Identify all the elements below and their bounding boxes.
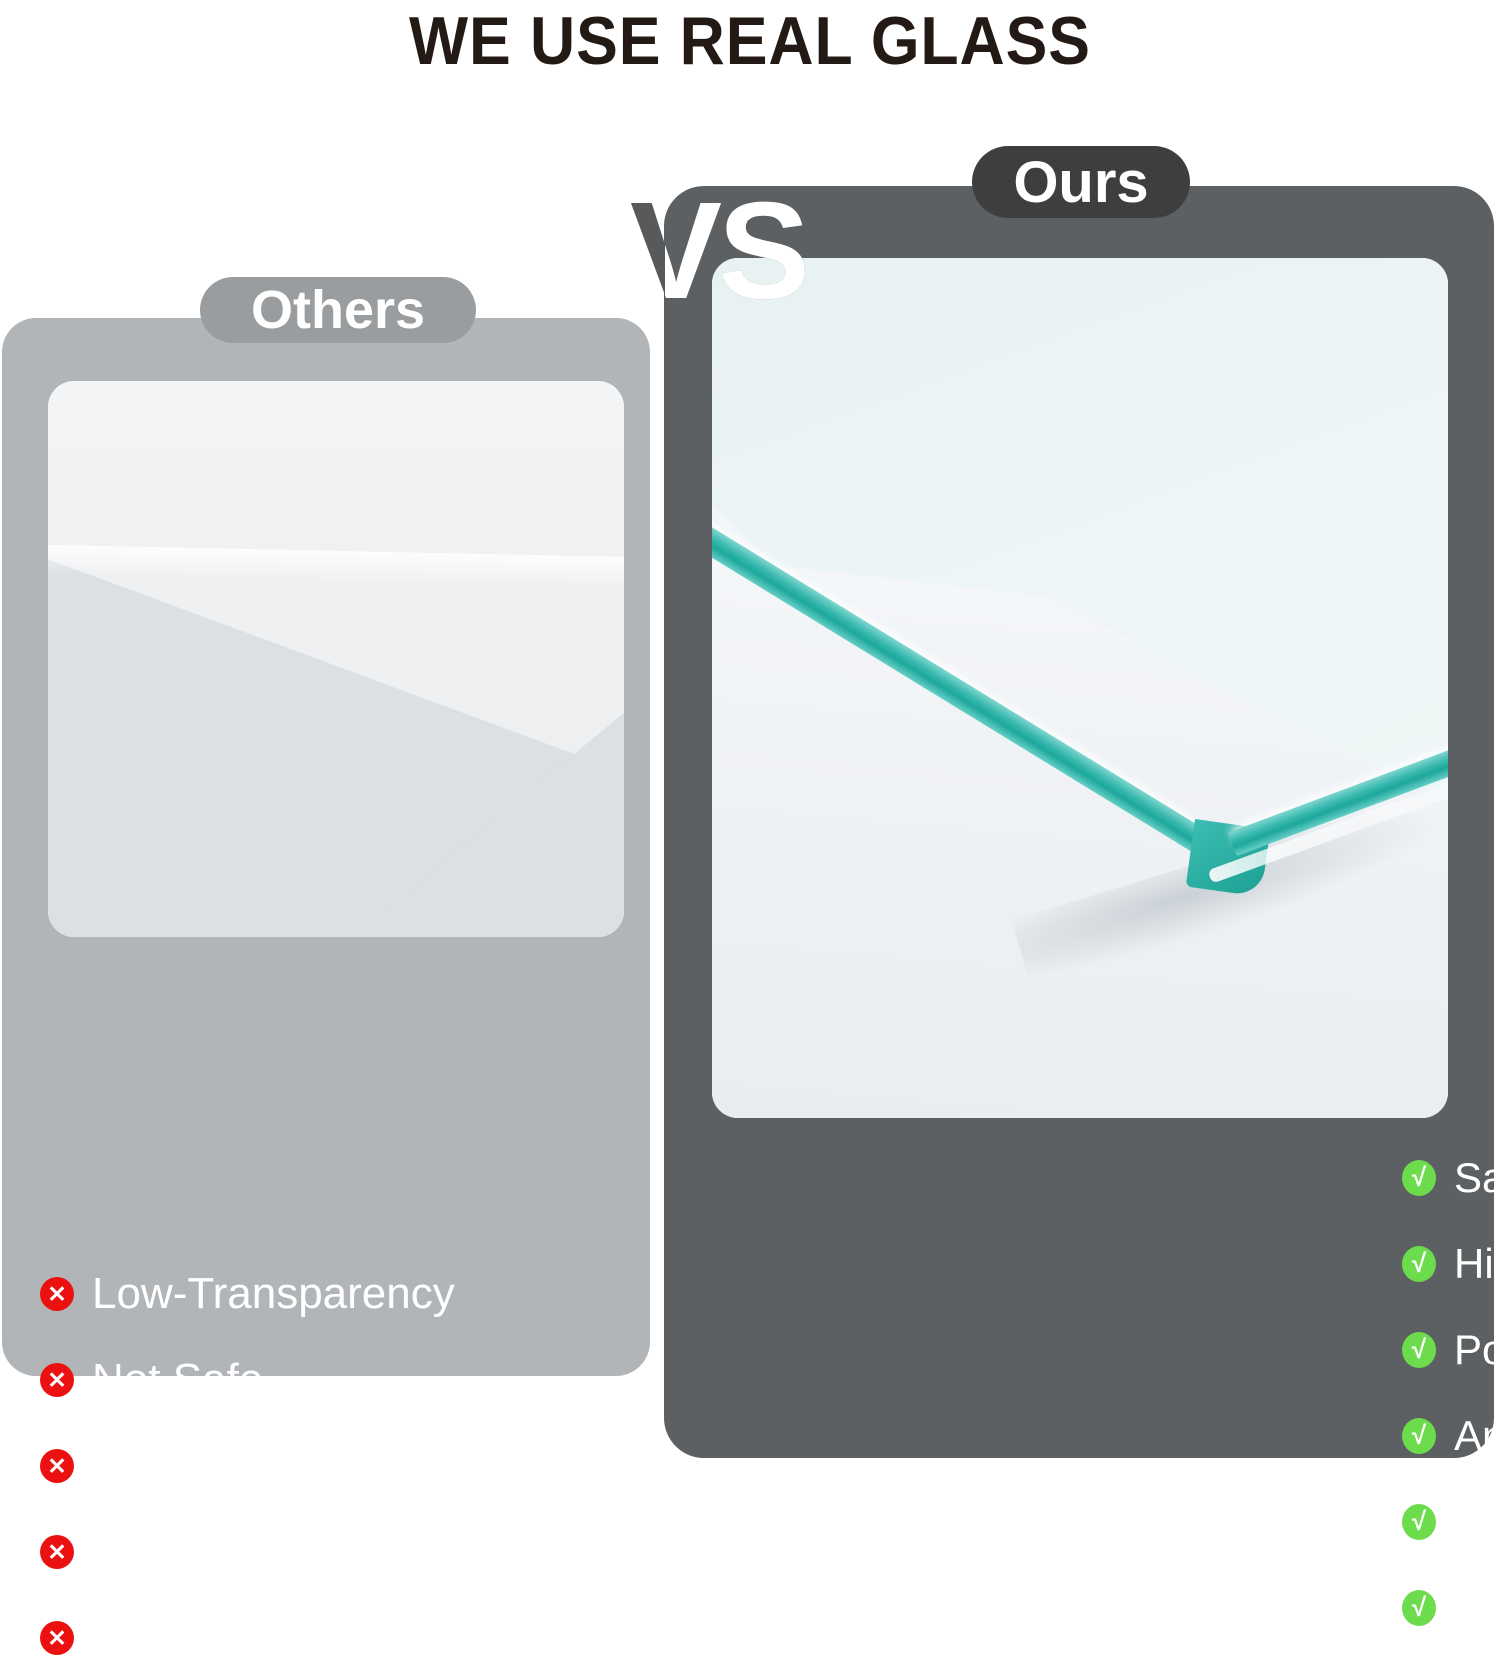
others-product-image [48, 381, 624, 937]
list-item: ✕ Easily Scratched [40, 1442, 640, 1490]
cross-icon: ✕ [40, 1449, 74, 1483]
ours-badge: Ours [972, 146, 1190, 218]
list-item-label: Not Enviromentally [92, 1614, 461, 1662]
cross-icon: ✕ [40, 1535, 74, 1569]
cross-icon: ✕ [40, 1621, 74, 1655]
list-item-label: Non-glare [1454, 1584, 1500, 1632]
check-icon: √ [1402, 1160, 1436, 1196]
list-item: ✕ Not Safe [40, 1356, 640, 1404]
list-item-label: Easily Fingerprinted [92, 1528, 481, 1576]
cross-icon: ✕ [40, 1277, 74, 1311]
list-item-label: Anti-Scratch & Fingerprint [1454, 1412, 1500, 1460]
cross-icon: ✕ [40, 1363, 74, 1397]
list-item: ✕ Easily Fingerprinted [40, 1528, 640, 1576]
list-item: √ Safe enough [1402, 1498, 1500, 1546]
list-item-label: Easily Scratched [92, 1442, 420, 1490]
list-item-label: Polished Edges for Extra Safety [1454, 1326, 1500, 1374]
ours-product-image [712, 258, 1448, 1118]
others-badge: Others [200, 277, 476, 343]
list-item-label: High-Transparency [1454, 1240, 1500, 1288]
versus-marker: VS VS [630, 182, 830, 320]
check-icon: √ [1402, 1332, 1436, 1368]
list-item: √ Safety Tempered-Glass [1402, 1154, 1500, 1202]
list-item: √ Polished Edges for Extra Safety [1402, 1326, 1500, 1374]
list-item: √ Non-glare [1402, 1584, 1500, 1632]
list-item-label: Not Safe [92, 1356, 263, 1404]
others-comparison-panel: ✕ Low-Transparency ✕ Not Safe ✕ Easily S… [2, 318, 650, 1376]
ours-feature-list: √ Safety Tempered-Glass √ High-Transpare… [1402, 1154, 1500, 1632]
page-title: WE USE REAL GLASS [60, 2, 1440, 80]
list-item: ✕ Low-Transparency [40, 1270, 640, 1318]
check-icon: √ [1402, 1418, 1436, 1454]
list-item: √ High-Transparency [1402, 1240, 1500, 1288]
ours-comparison-panel: √ Safety Tempered-Glass √ High-Transpare… [664, 186, 1494, 1458]
check-icon: √ [1402, 1590, 1436, 1626]
list-item: √ Anti-Scratch & Fingerprint [1402, 1412, 1500, 1460]
list-item-label: Low-Transparency [92, 1270, 455, 1318]
others-feature-list: ✕ Low-Transparency ✕ Not Safe ✕ Easily S… [40, 1270, 640, 1662]
list-item-label: Safe enough [1454, 1498, 1500, 1546]
check-icon: √ [1402, 1246, 1436, 1282]
list-item-label: Safety Tempered-Glass [1454, 1154, 1500, 1202]
list-item: ✕ Not Enviromentally [40, 1614, 640, 1662]
check-icon: √ [1402, 1504, 1436, 1540]
